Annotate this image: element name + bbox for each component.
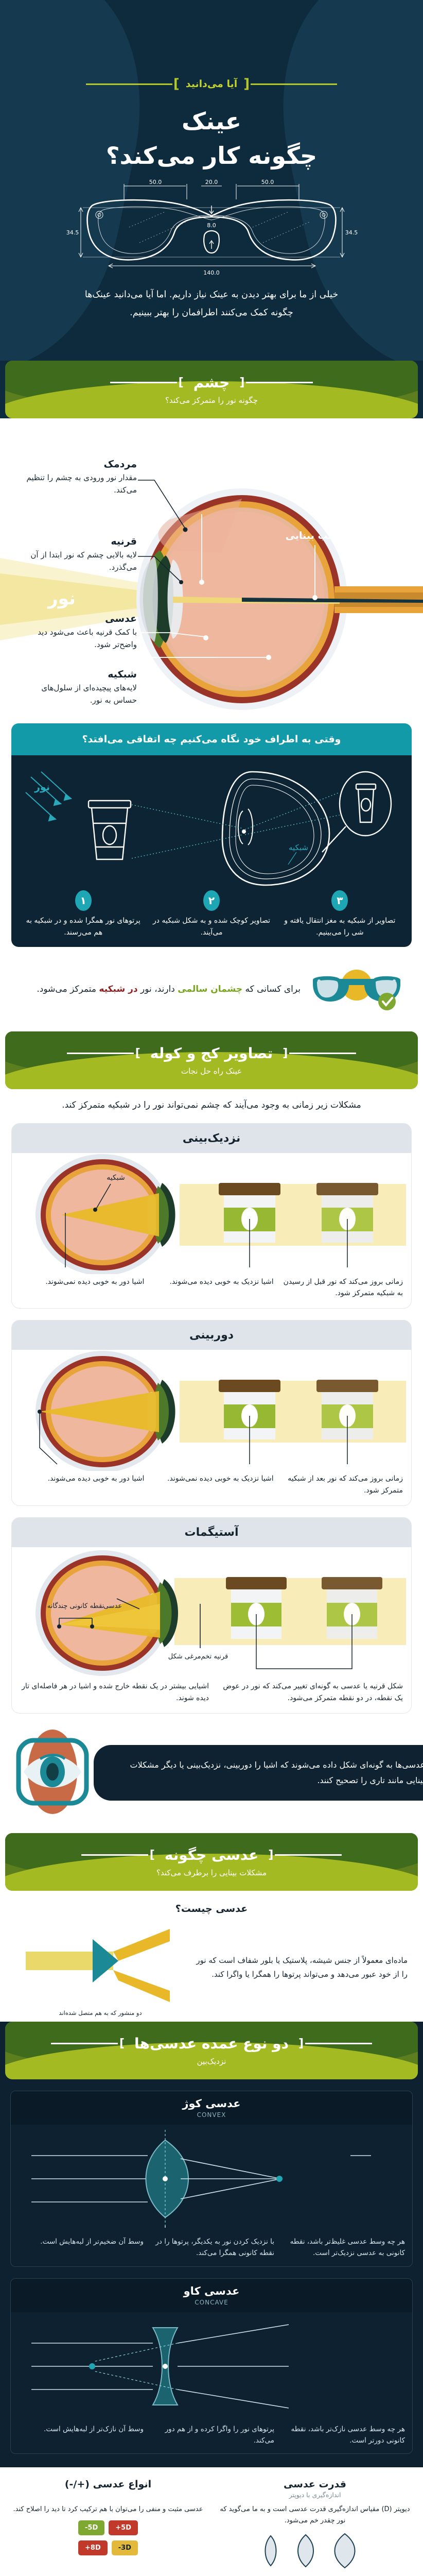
healthy-part-1: برای کسانی که	[242, 984, 301, 994]
banner-eye-sub: چگونه نور را متمرکز می‌کند؟	[110, 396, 313, 405]
step-item: ۲ تصاویر کوچک شده و به شکل شبکیه در می‌آ…	[149, 890, 274, 939]
prism-light-icon: دو منشور که به هم متصل شده‌اند	[15, 1919, 185, 2016]
lens-type-caption: هر چه وسط عدسی غلیظ‌تر باشد، نقطه کانونی…	[279, 2236, 405, 2259]
healthy-eyes-text: برای کسانی که چشمان سالمی دارند، نور در …	[17, 981, 301, 997]
infographic-page: [ آیا می‌دانید ] عینک چگونه کار می‌کند؟	[0, 0, 423, 2576]
hero-eyebrow: [ آیا می‌دانید ]	[0, 77, 423, 91]
problem-card-captions: زمانی بروز می‌کند که نور بعد از شبکیه مت…	[12, 1471, 411, 1505]
problem-caption: زمانی بروز می‌کند که نور قبل از رسیدن به…	[279, 1276, 403, 1299]
banner-rule-right	[275, 1854, 342, 1856]
bracket-open-icon: [	[238, 376, 246, 389]
problem-card-title: آستیگمات	[12, 1518, 411, 1547]
annotation-pupil-body: مقدار نور ورودی به چشم را تنظیم می‌کند.	[19, 471, 137, 496]
lens-type-caption: وسط آن نازک‌تر از لبه‌هایش است.	[18, 2424, 144, 2447]
banner-two-lens-types: [ دو نوع عمده عدسی‌ها ] نزدیک‌بین	[5, 2022, 418, 2079]
banner-problems-sub: عینک راه حل نجات	[67, 1066, 357, 1076]
problem-caption: اشیا دور به خوبی دیده نمی‌شوند.	[20, 1276, 144, 1299]
annotation-retina: شبکیه لایه‌های پیچیده‌ای از سلول‌های حسا…	[19, 669, 137, 706]
lens-power-and-types: قدرت عدسی اندازه‌گیری با دیوپتر دیوپتر (…	[0, 2467, 423, 2576]
dim-height-right: 34.5	[345, 229, 358, 236]
banner-rule-left	[51, 2043, 118, 2044]
step-item: ۳ تصاویر از شبکیه به مغز انتقال یافته و …	[277, 890, 402, 939]
lens-type-name: عدسی کاو	[15, 2285, 408, 2297]
light-label: نور	[47, 588, 76, 609]
dim-right-lens: 50.0	[261, 179, 274, 185]
look-around-light-label: نور	[34, 782, 50, 793]
healthy-highlight-red: در شبکیه	[99, 984, 137, 994]
hero-lead-text: خیلی از ما برای بهتر دیدن به عینک نیاز د…	[0, 279, 423, 321]
lens-type-name: عدسی کوژ	[15, 2097, 408, 2110]
bracket-open-icon: [	[297, 2037, 305, 2050]
lens-type-caption: هر چه وسط عدسی نازک‌تر باشد، نقطه کانونی…	[279, 2424, 405, 2447]
lens-type-caption: با نزدیک کردن نور به یکدیگر، پرتوها را د…	[149, 2236, 274, 2259]
banner-rule-left	[67, 1053, 134, 1054]
glasses-icon	[308, 960, 406, 1019]
lens-type-caption: وسط آن ضخیم‌تر از لبه‌هایش است.	[18, 2236, 144, 2259]
title-line-2: چگونه کار می‌کند؟	[0, 139, 423, 173]
step-item: ۱ پرتوهای نور همگرا شده و در شبکیه به هم…	[21, 890, 146, 939]
bracket-close-icon: ]	[172, 77, 181, 91]
banner-rule-right	[289, 1053, 356, 1054]
banner-eye-title: چشم	[185, 374, 238, 391]
lens-types-body: عدسی مثبت و منفی را می‌توان با هم ترکیب …	[9, 2504, 207, 2515]
banner-lens-title: عدسی چگونه	[156, 1846, 267, 1863]
banner-two-lens-sub: نزدیک‌بین	[51, 2057, 372, 2066]
banner-problems: [ تصاویر کج و کوله ] عینک راه حل نجات	[5, 1031, 418, 1089]
eyebrow-label: آیا می‌دانید	[181, 78, 243, 90]
lens-callout-text: عدسی‌ها به گونه‌ای شکل داده می‌شوند که ا…	[94, 1745, 423, 1800]
problem-card-farsighted: دوربینی	[11, 1320, 412, 1506]
bracket-open-icon: [	[267, 1849, 275, 1861]
annotation-pupil: مردمک مقدار نور ورودی به چشم را تنظیم می…	[19, 459, 137, 496]
bracket-close-icon: ]	[177, 376, 185, 389]
annotation-retina-title: شبکیه	[19, 669, 137, 680]
lens-power-subtitle: اندازه‌گیری با دیوپتر	[216, 2491, 414, 2499]
lens-type-chip: 8D+	[78, 2540, 108, 2555]
banner-rule-right	[246, 382, 313, 383]
prism-caption: دو منشور که به هم متصل شده‌اند	[15, 2009, 185, 2016]
lens-power-body: دیوپتر (D) مقیاس اندازه‌گیری قدرت عدسی ا…	[216, 2504, 414, 2527]
lens-type-english: CONVEX	[15, 2111, 408, 2119]
bracket-open-icon: [	[281, 1047, 289, 1060]
problem-caption: اشیایی بیشتر در یک نقطه خارج شده و اشیا …	[20, 1681, 209, 1704]
dim-left-lens: 50.0	[149, 179, 162, 185]
problem-card-title: نزدیک‌بینی	[12, 1124, 411, 1153]
problem-caption: اشیا نزدیک به خوبی دیده نمی‌شوند.	[149, 1473, 273, 1496]
glasses-blueprint: 50.0 20.0 50.0 8.0 34.5 34.5 140.0	[0, 176, 423, 279]
optic-nerve-label: عصب بینایی	[286, 530, 345, 541]
lens-type-captions: هر چه وسط عدسی غلیظ‌تر باشد، نقطه کانونی…	[11, 2233, 412, 2266]
problem-caption: اشیا نزدیک به خوبی دیده می‌شوند.	[149, 1276, 273, 1299]
banner-eye: [ چشم ] چگونه نور را متمرکز می‌کند؟	[5, 361, 418, 418]
lens-definition-text: ماده‌ای معمولاً از جنس شیشه، پلاستیک یا …	[193, 1954, 408, 1981]
lens-type-convex: عدسی کوژ CONVEX	[10, 2091, 413, 2267]
lens-type-chip: 5D-	[78, 2520, 104, 2535]
banner-lens: [ عدسی چگونه ] مشکلات بینایی را برطرف می…	[5, 1833, 418, 1891]
astig-label-lens: عدسی	[103, 1602, 122, 1610]
problem-card-captions: شکل قرنیه یا عدسی به گونه‌ای تغییر می‌کن…	[12, 1679, 411, 1713]
healthy-eyes-note: برای کسانی که چشمان سالمی دارند، نور در …	[0, 947, 423, 1031]
lens-power-column: قدرت عدسی اندازه‌گیری با دیوپتر دیوپتر (…	[216, 2479, 414, 2576]
banner-two-lens-title: دو نوع عمده عدسی‌ها	[126, 2035, 297, 2052]
problem-caption: اشیا دور به خوبی دیده می‌شوند.	[20, 1473, 144, 1496]
banner-rule-left	[81, 1854, 148, 1856]
nearsighted-diagram: شبکیه	[11, 1153, 411, 1274]
look-around-steps: ۳ تصاویر از شبکیه به مغز انتقال یافته و …	[11, 890, 412, 939]
annotation-lens-title: عدسی	[19, 613, 137, 624]
problems-intro: مشکلات زیر زمانی به وجود می‌آیند که چشم …	[0, 1089, 423, 1123]
retina-label: شبکیه	[289, 843, 308, 852]
dim-bridge: 20.0	[205, 179, 218, 185]
dim-height-left: 34.5	[66, 229, 79, 236]
eye-anatomy-section: نور عصب بینایی مردمک مقدار نور ورودی به …	[0, 418, 423, 718]
lens-definition: ماده‌ای معمولاً از جنس شیشه، پلاستیک یا …	[0, 1919, 423, 2022]
lens-types-chip-row: 5D+ 5D-	[9, 2520, 207, 2535]
annotation-retina-body: لایه‌های پیچیده‌ای از سلول‌های حساس به ن…	[19, 682, 137, 706]
lens-callout-row: عدسی‌ها به گونه‌ای شکل داده می‌شوند که ا…	[0, 1725, 423, 1833]
retina-image-diagram: نور	[11, 761, 412, 890]
lens-type-caption: پرتوهای نور را واگرا کرده و از هم دور می…	[149, 2424, 274, 2447]
lens-types-column: انواع عدسی (+/-) . عدسی مثبت و منفی را م…	[9, 2479, 207, 2576]
eye-with-contact-icon	[11, 1728, 94, 1818]
lens-type-chip: 3D-	[112, 2540, 138, 2555]
problem-card-captions: زمانی بروز می‌کند که نور قبل از رسیدن به…	[12, 1274, 411, 1309]
look-around-card: وقتی به اطراف خود نگاه می‌کنیم چه اتفاقی…	[11, 723, 412, 947]
healthy-highlight-green: چشمان سالمی	[178, 984, 242, 994]
eyebrow-rule-right	[251, 83, 337, 85]
lens-type-chip: 5D+	[109, 2520, 138, 2535]
farsighted-diagram	[11, 1350, 411, 1471]
step-number: ۲	[203, 890, 220, 911]
step-number: ۱	[75, 890, 92, 911]
annotation-lens: عدسی با کمک قرنیه باعث می‌شود دید واضح‌ت…	[19, 613, 137, 651]
lens-type-captions: هر چه وسط عدسی نازک‌تر باشد، نقطه کانونی…	[11, 2420, 412, 2454]
bracket-close-icon: ]	[118, 2037, 126, 2050]
problem-card-nearsighted: نزدیک‌بینی	[11, 1123, 412, 1309]
step-text: تصاویر کوچک شده و به شکل شبکیه در می‌آین…	[149, 915, 274, 939]
retina-label: شبکیه	[107, 1174, 125, 1182]
annotation-cornea-title: قرنیه	[19, 536, 137, 547]
dim-total-width: 140.0	[203, 269, 220, 276]
astigmatism-diagram: عدسی نقطه کانونی چندگانه قرنیه تخم‌مرغی …	[11, 1547, 411, 1679]
look-around-heading: وقتی به اطراف خود نگاه می‌کنیم چه اتفاقی…	[11, 723, 412, 755]
lens-type-concave: عدسی کاو CONCAVE هر چه	[10, 2278, 413, 2454]
banner-rule-right	[305, 2043, 372, 2044]
lens-power-title: قدرت عدسی	[216, 2479, 414, 2490]
banner-lens-sub: مشکلات بینایی را برطرف می‌کند؟	[81, 1868, 342, 1877]
bracket-close-icon: ]	[148, 1849, 156, 1861]
diopter-lens-icons	[216, 2531, 414, 2571]
healthy-part-2: دارند، نور	[138, 984, 178, 994]
bracket-open-icon: [	[242, 77, 251, 91]
astig-label-multifocal: نقطه کانونی چندگانه	[47, 1602, 104, 1610]
dim-bridge-height: 8.0	[207, 222, 216, 229]
two-lens-types-section: [ دو نوع عمده عدسی‌ها ] نزدیک‌بین عدسی ک…	[0, 2022, 423, 2467]
title-line-1: عینک	[182, 107, 241, 135]
bracket-close-icon: ]	[134, 1047, 142, 1060]
step-text: تصاویر از شبکیه به مغز انتقال یافته و شی…	[277, 915, 402, 939]
lens-types-title: انواع عدسی (+/-)	[9, 2479, 207, 2490]
banner-problems-title: تصاویر کج و کوله	[142, 1045, 281, 1062]
annotation-cornea-body: لایه بالایی چشم که نور ابتدا از آن می‌گذ…	[19, 549, 137, 573]
problem-card-title: دوربینی	[12, 1320, 411, 1350]
annotation-cornea: قرنیه لایه بالایی چشم که نور ابتدا از آن…	[19, 536, 137, 573]
lens-types-chip-row-2: 3D- 8D+	[9, 2540, 207, 2555]
concave-lens-diagram	[11, 2312, 412, 2420]
lens-type-english: CONCAVE	[15, 2299, 408, 2306]
eyebrow-rule-left	[86, 83, 172, 85]
lens-question-title: عدسی چیست؟	[0, 1891, 423, 1919]
problem-caption: زمانی بروز می‌کند که نور بعد از شبکیه مت…	[279, 1473, 403, 1496]
healthy-part-3: متمرکز می‌شود.	[37, 984, 99, 994]
banner-rule-left	[110, 382, 177, 383]
hero-section: [ آیا می‌دانید ] عینک چگونه کار می‌کند؟	[0, 0, 423, 361]
annotation-lens-body: با کمک قرنیه باعث می‌شود دید واضح‌تر شود…	[19, 626, 137, 651]
problem-card-astigmatism: آستیگمات عدسی	[11, 1517, 412, 1714]
annotation-pupil-title: مردمک	[19, 459, 137, 470]
convex-lens-diagram	[11, 2125, 412, 2233]
problem-caption: شکل قرنیه یا عدسی به گونه‌ای تغییر می‌کن…	[214, 1681, 403, 1704]
astig-label-cornea: قرنیه تخم‌مرغی شکل	[168, 1653, 228, 1660]
step-text: پرتوهای نور همگرا شده و در شبکیه به هم م…	[21, 915, 146, 939]
page-title: عینک چگونه کار می‌کند؟	[0, 104, 423, 173]
step-number: ۳	[331, 890, 348, 911]
